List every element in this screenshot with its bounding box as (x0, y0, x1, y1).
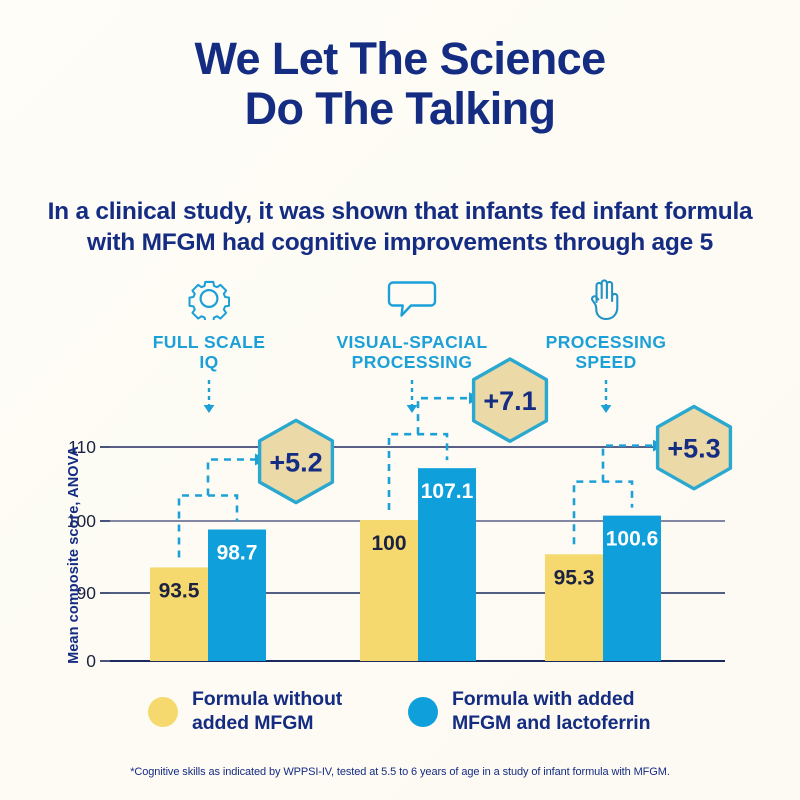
legend-swatch-icon (408, 697, 438, 727)
bar-with-mfgm (208, 529, 266, 661)
subtitle-line-2: with MFGM had cognitive improvements thr… (12, 227, 788, 258)
chart-legend: Formula without added MFGM Formula with … (0, 688, 800, 748)
bar-value-label: 93.5 (159, 579, 200, 602)
legend-label: Formula without added MFGM (192, 688, 342, 736)
legend-label-line-2: MFGM and lactoferrin (452, 712, 650, 736)
bar-value-label: 100 (371, 532, 406, 555)
bar-value-label: 95.3 (554, 566, 595, 589)
bar-without-mfgm (545, 554, 603, 661)
delta-badge-label: +5.2 (269, 447, 322, 477)
headline-line-2: Do The Talking (0, 84, 800, 134)
category-label-line-2: PROCESSING (312, 352, 512, 372)
subtitle-line-1: In a clinical study, it was shown that i… (48, 198, 753, 225)
category-label-line-2: IQ (109, 352, 309, 372)
category-label: FULL SCALE IQ (109, 332, 309, 373)
legend-item-without-mfgm: Formula without added MFGM (148, 688, 342, 736)
hand-icon (506, 276, 706, 322)
speech-bubble-icon (312, 276, 512, 322)
category-processing-speed: PROCESSING SPEED (506, 276, 706, 373)
down-arrow-icon (598, 380, 614, 421)
headline-line-1: We Let The Science (194, 33, 605, 84)
legend-label-line-2: added MFGM (192, 712, 342, 736)
bar-value-label: 100.6 (606, 528, 659, 551)
down-arrow-icon (201, 380, 217, 421)
bar-value-label: 98.7 (217, 541, 258, 564)
bar-with-mfgm (418, 468, 476, 661)
category-visual-spacial-processing: VISUAL-SPACIAL PROCESSING (312, 276, 512, 373)
down-arrow-icon (404, 380, 420, 421)
category-label-line-1: PROCESSING (546, 332, 667, 352)
delta-badge (260, 420, 333, 502)
delta-badge-label: +5.3 (667, 434, 720, 464)
category-label-line-1: VISUAL-SPACIAL (336, 332, 487, 352)
legend-label-line-1: Formula without (192, 688, 342, 710)
footnote: *Cognitive skills as indicated by WPPSI-… (0, 766, 800, 778)
infographic-page: We Let The Science Do The Talking In a c… (0, 0, 800, 800)
bar-without-mfgm (360, 520, 418, 661)
y-axis-label: Mean composite score, ANOVA (62, 430, 86, 680)
category-label: PROCESSING SPEED (506, 332, 706, 373)
legend-swatch-icon (148, 697, 178, 727)
category-label-line-2: SPEED (506, 352, 706, 372)
category-row: FULL SCALE IQ VISUAL-SPACIAL PROCESSING (0, 276, 800, 426)
gear-icon (109, 276, 309, 322)
bar-with-mfgm (603, 516, 661, 661)
subtitle: In a clinical study, it was shown that i… (12, 196, 788, 259)
bar-without-mfgm (150, 567, 208, 661)
y-axis-tick-label: 0 (86, 651, 96, 671)
category-label-line-1: FULL SCALE (153, 332, 266, 352)
legend-label: Formula with added MFGM and lactoferrin (452, 688, 650, 736)
legend-label-line-1: Formula with added (452, 688, 634, 710)
legend-item-with-mfgm: Formula with added MFGM and lactoferrin (408, 688, 650, 736)
category-full-scale-iq: FULL SCALE IQ (109, 276, 309, 373)
page-title: We Let The Science Do The Talking (0, 34, 800, 135)
bar-value-label: 107.1 (421, 480, 474, 503)
category-label: VISUAL-SPACIAL PROCESSING (312, 332, 512, 373)
